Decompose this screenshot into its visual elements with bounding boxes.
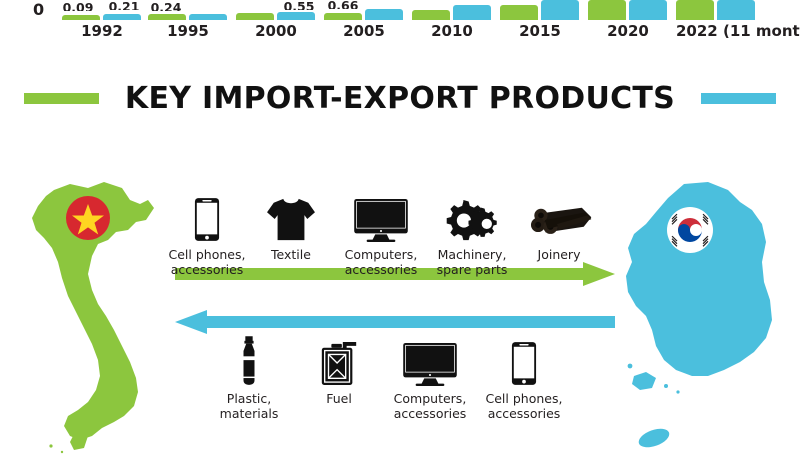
gears-icon — [442, 200, 502, 242]
bar-import-2000 — [277, 12, 315, 20]
title-rule-left — [24, 93, 99, 104]
jeju-island — [636, 425, 672, 451]
product-item: Machinery, spare parts — [425, 190, 519, 277]
year-label-2000: 2000 — [236, 22, 316, 40]
year-label-1995: 1995 — [148, 22, 228, 40]
bar-import-2020 — [629, 0, 667, 20]
bar-import-2015 — [541, 0, 579, 20]
south-korea-island-dot — [664, 384, 668, 388]
section-title-row: KEY IMPORT-EXPORT PRODUCTS — [0, 74, 800, 122]
bar-group — [500, 0, 580, 20]
bar-export-2022 (11 months) — [676, 0, 714, 20]
cell-phone-icon — [511, 341, 537, 386]
south-korea-island-dot — [676, 390, 679, 393]
product-icon-wrap — [425, 190, 519, 242]
product-label: Machinery, spare parts — [425, 247, 519, 277]
product-item: Cell phones, accessories — [477, 334, 571, 421]
bar-value-label: 0.55 — [278, 0, 320, 10]
product-icon-wrap — [202, 334, 296, 386]
bar-export-1995 — [148, 14, 186, 20]
product-icon-wrap — [512, 190, 606, 242]
product-icon-wrap — [160, 190, 254, 242]
bar-import-2022 (11 months) — [717, 0, 755, 20]
product-label: Cell phones, accessories — [477, 391, 571, 421]
product-item: Textile — [244, 190, 338, 262]
bar-export-2000 — [236, 13, 274, 20]
fuel-can-icon — [318, 340, 360, 386]
bar-value-label: 0.66 — [322, 0, 364, 9]
bar-value-label: 0.09 — [57, 0, 99, 11]
monitor-icon — [353, 198, 409, 242]
bar-export-1992 — [62, 15, 100, 20]
product-label: Joinery — [512, 247, 606, 262]
axis-zero-label: 0 — [33, 2, 44, 18]
bar-export-2015 — [500, 5, 538, 20]
product-item: Joinery — [512, 190, 606, 262]
bar-group — [148, 14, 228, 20]
vietnam-island-dot — [49, 444, 52, 447]
bar-group — [412, 5, 492, 20]
product-icon-wrap — [334, 190, 428, 242]
bar-export-2010 — [412, 10, 450, 20]
south-korea-island-dot — [628, 364, 633, 369]
product-icon-wrap — [244, 190, 338, 242]
product-item: Plastic, materials — [202, 334, 296, 421]
year-label-202211: 2022 (11 months) — [676, 22, 756, 40]
product-item: Fuel — [292, 334, 386, 406]
south-korea-map — [612, 180, 792, 455]
import-flow-arrow — [175, 310, 615, 334]
vietnam-map — [18, 178, 168, 458]
vietnam-island-dot — [61, 451, 63, 453]
product-label: Textile — [244, 247, 338, 262]
year-label-2005: 2005 — [324, 22, 404, 40]
year-label-1992: 1992 — [62, 22, 142, 40]
bar-chart-strip: 0 19921995200020052010201520202022 (11 m… — [0, 0, 800, 48]
bar-group — [676, 0, 756, 20]
bar-import-1995 — [189, 14, 227, 20]
product-icon-wrap — [383, 334, 477, 386]
product-item: Computers, accessories — [383, 334, 477, 421]
product-label: Computers, accessories — [334, 247, 428, 277]
bar-import-2010 — [453, 5, 491, 20]
product-label: Fuel — [292, 391, 386, 406]
year-label-2010: 2010 — [412, 22, 492, 40]
product-label: Cell phones, accessories — [160, 247, 254, 277]
bar-export-2020 — [588, 0, 626, 20]
south-korea-coastal-islands — [632, 372, 656, 390]
title-rule-right — [701, 93, 776, 104]
product-icon-wrap — [477, 334, 571, 386]
bar-import-2005 — [365, 9, 403, 20]
bar-import-1992 — [103, 14, 141, 20]
bar-group — [324, 9, 404, 20]
bar-group — [236, 12, 316, 20]
product-item: Cell phones, accessories — [160, 190, 254, 277]
south-korea-flag-badge — [667, 207, 713, 253]
product-item: Computers, accessories — [334, 190, 428, 277]
product-icon-wrap — [292, 334, 386, 386]
monitor-icon — [402, 342, 458, 386]
bar-value-label: 0.21 — [103, 0, 145, 10]
page-title: KEY IMPORT-EXPORT PRODUCTS — [125, 81, 675, 116]
year-label-2015: 2015 — [500, 22, 580, 40]
bar-value-label: 0.24 — [145, 0, 187, 11]
year-label-2020: 2020 — [588, 22, 668, 40]
bar-export-2005 — [324, 13, 362, 20]
bar-group — [62, 14, 142, 20]
bar-group — [588, 0, 668, 20]
logs-icon — [524, 204, 594, 242]
plastic-bottle-icon — [238, 336, 260, 386]
product-label: Plastic, materials — [202, 391, 296, 421]
cell-phone-icon — [194, 197, 220, 242]
product-label: Computers, accessories — [383, 391, 477, 421]
tshirt-icon — [266, 196, 316, 242]
